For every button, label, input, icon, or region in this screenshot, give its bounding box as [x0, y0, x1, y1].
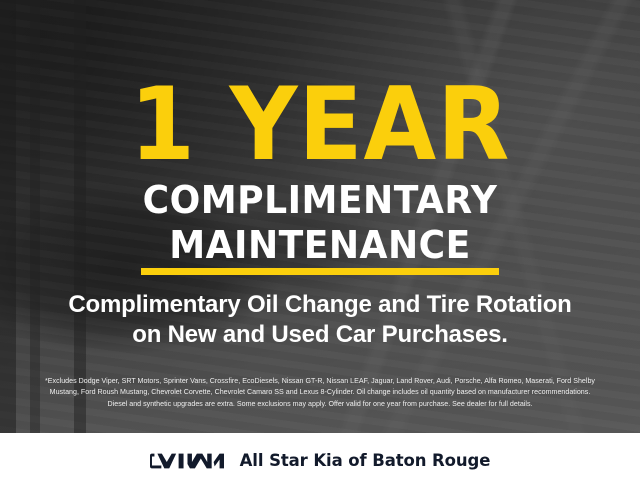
headline-primary: 1 YEAR: [22, 74, 617, 175]
hero-section: 1 YEAR COMPLIMENTARY MAINTENANCE Complim…: [0, 0, 640, 433]
disclaimer-line-2: Mustang, Ford Roush Mustang, Chevrolet C…: [14, 387, 626, 398]
kia-logo-icon: [150, 451, 224, 471]
headline-secondary-line-2: MAINTENANCE: [16, 226, 624, 264]
disclaimer-text: *Excludes Dodge Viper, SRT Motors, Sprin…: [14, 376, 626, 410]
subheadline: Complimentary Oil Change and Tire Rotati…: [28, 290, 612, 350]
hero-content: 1 YEAR COMPLIMENTARY MAINTENANCE Complim…: [0, 0, 640, 433]
dealer-name: All Star Kia of Baton Rouge: [240, 451, 491, 470]
yellow-divider-rule: [141, 268, 499, 275]
footer-bar: All Star Kia of Baton Rouge: [0, 433, 640, 488]
subheadline-line-1: Complimentary Oil Change and Tire Rotati…: [68, 291, 571, 318]
disclaimer-line-3: Diesel and synthetic upgrades are extra.…: [14, 399, 626, 410]
subheadline-line-2: on New and Used Car Purchases.: [28, 320, 612, 350]
disclaimer-line-1: *Excludes Dodge Viper, SRT Motors, Sprin…: [14, 376, 626, 387]
promotional-banner: 1 YEAR COMPLIMENTARY MAINTENANCE Complim…: [0, 0, 640, 488]
headline-secondary-line-1: COMPLIMENTARY: [16, 181, 624, 219]
